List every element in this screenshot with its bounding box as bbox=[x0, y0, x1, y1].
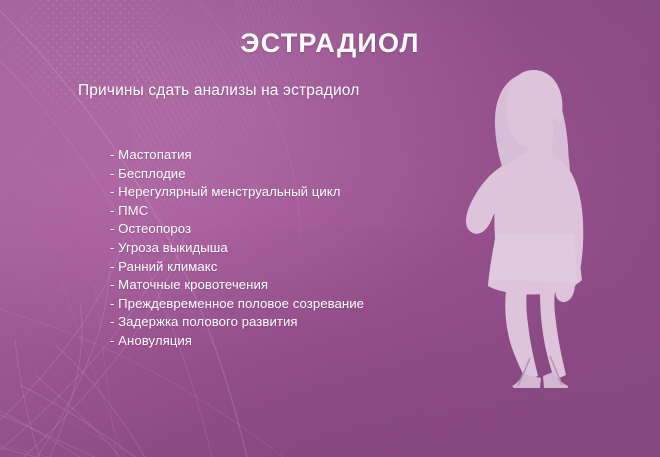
reasons-list: - Мастопатия- Бесплодие- Нерегулярный ме… bbox=[110, 146, 364, 351]
reason-item: - Остеопороз bbox=[110, 220, 364, 239]
reason-item: - ПМС bbox=[110, 202, 364, 221]
reason-item: - Мастопатия bbox=[110, 146, 364, 165]
subtitle: Причины сдать анализы на эстрадиол bbox=[78, 82, 359, 101]
slide-canvas: ЭСТРАДИОЛ Причины сдать анализы на эстра… bbox=[0, 0, 660, 457]
reason-item: - Ановуляция bbox=[110, 332, 364, 351]
page-title: ЭСТРАДИОЛ bbox=[0, 29, 660, 59]
reason-item: - Нерегулярный менструальный цикл bbox=[110, 183, 364, 202]
reason-item: - Угроза выкидыша bbox=[110, 239, 364, 258]
reason-item: - Задержка полового развития bbox=[110, 313, 364, 332]
reason-item: - Ранний климакс bbox=[110, 258, 364, 277]
reason-item: - Бесплодие bbox=[110, 165, 364, 184]
reason-item: - Маточные кровотечения bbox=[110, 276, 364, 295]
reason-item: - Преждевременное половое созревание bbox=[110, 295, 364, 314]
